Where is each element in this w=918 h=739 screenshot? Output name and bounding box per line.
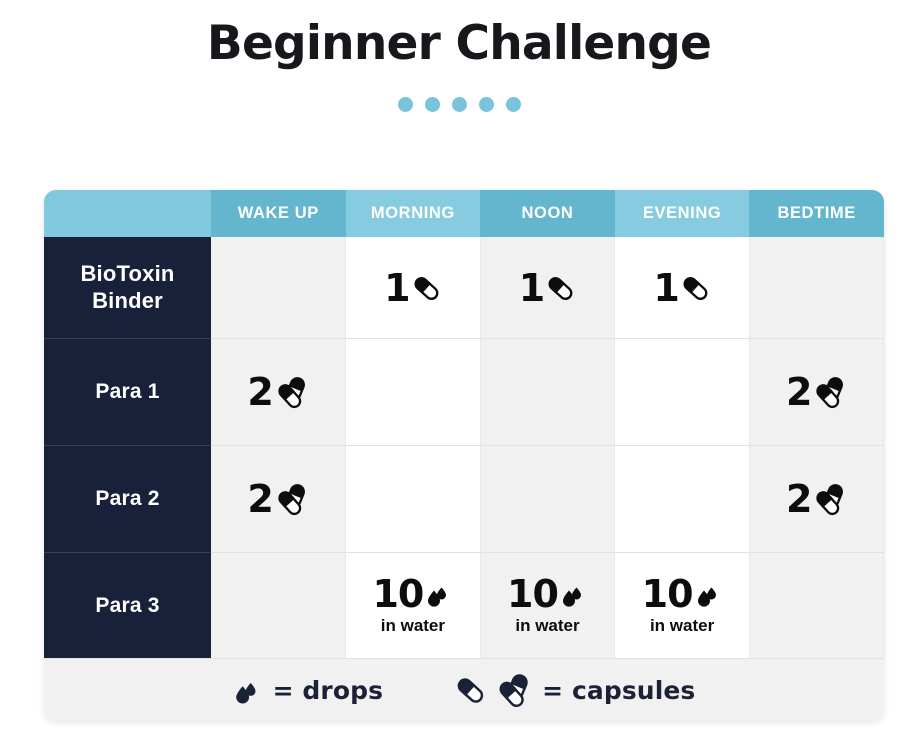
schedule-table: WAKE UP MORNING NOON EVENING BEDTIME Bio… — [44, 190, 884, 659]
table-body: BioToxin Binder 1 — [44, 237, 884, 659]
dose-note: in water — [650, 616, 714, 636]
table-header: WAKE UP MORNING NOON EVENING BEDTIME — [44, 190, 884, 237]
cell-para2-evening — [615, 446, 750, 553]
table-row: Para 2 2 — [44, 446, 884, 553]
header-row: WAKE UP MORNING NOON EVENING BEDTIME — [44, 190, 884, 237]
capsule-double-icon — [275, 375, 309, 409]
cell-biotoxin-bedtime — [749, 237, 884, 339]
dose-amount: 10 — [372, 575, 423, 613]
cell-para2-morning — [346, 446, 481, 553]
header-corner — [44, 190, 211, 237]
dose-group: 2 — [750, 373, 884, 411]
dose-note: in water — [515, 616, 579, 636]
cell-biotoxin-evening: 1 — [615, 237, 750, 339]
drops-icon — [425, 580, 453, 608]
dose-amount: 2 — [247, 480, 272, 518]
dose-group: 2 — [211, 480, 345, 518]
table-row: BioToxin Binder 1 — [44, 237, 884, 339]
column-header-wake-up: WAKE UP — [211, 190, 346, 237]
row-label-biotoxin-binder: BioToxin Binder — [44, 237, 211, 339]
table-row: Para 3 10 — [44, 553, 884, 659]
legend-icons — [455, 672, 532, 708]
dose-group: 1 — [615, 269, 749, 307]
dose-group: 10 in water — [615, 575, 749, 636]
cell-para1-evening — [615, 339, 750, 446]
legend-icons — [233, 675, 263, 705]
capsule-single-icon — [546, 273, 576, 303]
challenge-schedule-page: Beginner Challenge WAKE UP MORNING NOON … — [0, 0, 918, 739]
capsule-double-icon — [813, 375, 847, 409]
capsule-single-icon — [455, 674, 487, 706]
row-label-line1: BioToxin — [44, 261, 211, 288]
schedule-table-container: WAKE UP MORNING NOON EVENING BEDTIME Bio… — [44, 190, 884, 721]
dose-amount: 10 — [507, 575, 558, 613]
row-label-para-1: Para 1 — [44, 339, 211, 446]
table-row: Para 1 2 — [44, 339, 884, 446]
capsule-double-icon — [275, 482, 309, 516]
column-header-noon: NOON — [480, 190, 615, 237]
dose-group: 2 — [211, 373, 345, 411]
row-label-para-2: Para 2 — [44, 446, 211, 553]
dose-group: 1 — [346, 269, 480, 307]
drops-icon — [233, 675, 263, 705]
cell-para1-morning — [346, 339, 481, 446]
drops-icon — [560, 580, 588, 608]
capsule-single-icon — [412, 273, 442, 303]
cell-biotoxin-morning: 1 — [346, 237, 481, 339]
dot-icon — [452, 97, 467, 112]
cell-para3-bedtime — [749, 553, 884, 659]
dose-amount: 1 — [653, 269, 678, 307]
legend-item-drops: = drops — [233, 675, 384, 705]
dose-amount: 2 — [247, 373, 272, 411]
row-label-line1: Para 1 — [44, 379, 211, 405]
dose-group: 10 in water — [481, 575, 615, 636]
capsule-double-icon — [496, 672, 532, 708]
page-title: Beginner Challenge — [0, 0, 918, 71]
dose-amount: 10 — [642, 575, 693, 613]
dot-icon — [506, 97, 521, 112]
legend-item-capsules: = capsules — [455, 672, 695, 708]
dose-amount: 2 — [786, 480, 811, 518]
row-label-line2: Binder — [44, 288, 211, 315]
cell-para3-evening: 10 in water — [615, 553, 750, 659]
row-label-para-3: Para 3 — [44, 553, 211, 659]
capsule-double-icon — [813, 482, 847, 516]
dose-row: 10 — [507, 575, 588, 613]
cell-biotoxin-noon: 1 — [480, 237, 615, 339]
cell-para2-wake-up: 2 — [211, 446, 346, 553]
dot-icon — [425, 97, 440, 112]
cell-para1-wake-up: 2 — [211, 339, 346, 446]
cell-para1-noon — [480, 339, 615, 446]
dose-row: 10 — [642, 575, 723, 613]
row-label-line1: Para 2 — [44, 486, 211, 512]
column-header-morning: MORNING — [346, 190, 481, 237]
legend-label-capsules: = capsules — [542, 676, 695, 705]
dot-separator — [0, 96, 918, 112]
cell-para2-bedtime: 2 — [749, 446, 884, 553]
dose-amount: 2 — [786, 373, 811, 411]
dose-group: 1 — [481, 269, 615, 307]
cell-para2-noon — [480, 446, 615, 553]
dose-group: 2 — [750, 480, 884, 518]
dose-amount: 1 — [519, 269, 544, 307]
cell-para1-bedtime: 2 — [749, 339, 884, 446]
cell-biotoxin-wake-up — [211, 237, 346, 339]
drops-icon — [695, 580, 723, 608]
dot-icon — [398, 97, 413, 112]
dose-group: 10 in water — [346, 575, 480, 636]
cell-para3-wake-up — [211, 553, 346, 659]
legend: = drops — [44, 659, 884, 721]
cell-para3-morning: 10 in water — [346, 553, 481, 659]
legend-label-drops: = drops — [273, 676, 384, 705]
dose-row: 10 — [372, 575, 453, 613]
column-header-evening: EVENING — [615, 190, 750, 237]
dose-note: in water — [381, 616, 445, 636]
dot-icon — [479, 97, 494, 112]
cell-para3-noon: 10 in water — [480, 553, 615, 659]
row-label-line1: Para 3 — [44, 593, 211, 619]
column-header-bedtime: BEDTIME — [749, 190, 884, 237]
capsule-single-icon — [681, 273, 711, 303]
dose-amount: 1 — [384, 269, 409, 307]
